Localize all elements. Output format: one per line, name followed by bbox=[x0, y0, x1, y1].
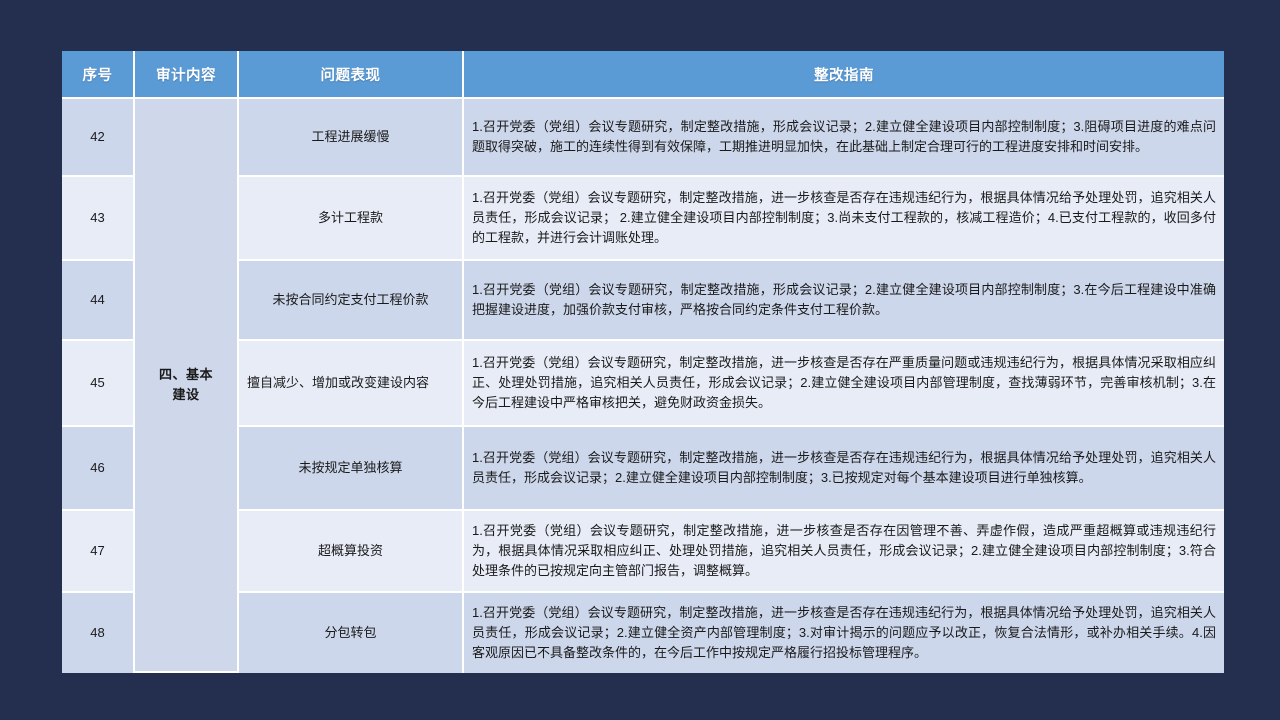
table-header-row: 序号 审计内容 问题表现 整改指南 bbox=[62, 51, 1224, 99]
audit-rectification-table: 序号 审计内容 问题表现 整改指南 42 四、基本 建设 工程进展缓慢 1.召开… bbox=[62, 51, 1224, 673]
column-header-content: 审计内容 bbox=[135, 51, 239, 99]
table-row: 42 四、基本 建设 工程进展缓慢 1.召开党委（党组）会议专题研究，制定整改措… bbox=[62, 99, 1224, 177]
cell-guide: 1.召开党委（党组）会议专题研究，制定整改措施，进一步核查是否存在因管理不善、弄… bbox=[464, 511, 1224, 593]
cell-guide: 1.召开党委（党组）会议专题研究，制定整改措施，形成会议记录；2.建立健全建设项… bbox=[464, 99, 1224, 177]
table-body: 42 四、基本 建设 工程进展缓慢 1.召开党委（党组）会议专题研究，制定整改措… bbox=[62, 99, 1224, 673]
cell-seq: 42 bbox=[62, 99, 135, 177]
cell-seq: 43 bbox=[62, 177, 135, 261]
cell-seq: 45 bbox=[62, 341, 135, 427]
group-label-line-2: 建设 bbox=[172, 387, 199, 402]
cell-issue: 擅自减少、增加或改变建设内容 bbox=[239, 341, 464, 427]
cell-seq: 48 bbox=[62, 593, 135, 673]
cell-issue: 分包转包 bbox=[239, 593, 464, 673]
group-label-line-1: 四、基本 bbox=[159, 367, 213, 382]
cell-issue: 未按合同约定支付工程价款 bbox=[239, 261, 464, 341]
column-header-guide: 整改指南 bbox=[464, 51, 1224, 99]
table-header: 序号 审计内容 问题表现 整改指南 bbox=[62, 51, 1224, 99]
cell-seq: 44 bbox=[62, 261, 135, 341]
cell-issue: 未按规定单独核算 bbox=[239, 427, 464, 511]
cell-issue: 多计工程款 bbox=[239, 177, 464, 261]
cell-guide: 1.召开党委（党组）会议专题研究，制定整改措施，进一步核查是否存在违规违纪行为，… bbox=[464, 177, 1224, 261]
cell-guide: 1.召开党委（党组）会议专题研究，制定整改措施，进一步核查是否存在严重质量问题或… bbox=[464, 341, 1224, 427]
cell-audit-content-group: 四、基本 建设 bbox=[135, 99, 239, 673]
cell-seq: 47 bbox=[62, 511, 135, 593]
cell-seq: 46 bbox=[62, 427, 135, 511]
slide-canvas: 序号 审计内容 问题表现 整改指南 42 四、基本 建设 工程进展缓慢 1.召开… bbox=[0, 0, 1280, 720]
column-header-issue: 问题表现 bbox=[239, 51, 464, 99]
cell-issue: 工程进展缓慢 bbox=[239, 99, 464, 177]
cell-guide: 1.召开党委（党组）会议专题研究，制定整改措施，形成会议记录；2.建立健全建设项… bbox=[464, 261, 1224, 341]
cell-guide: 1.召开党委（党组）会议专题研究，制定整改措施，进一步核查是否存在违规违纪行为，… bbox=[464, 427, 1224, 511]
column-header-seq: 序号 bbox=[62, 51, 135, 99]
cell-guide: 1.召开党委（党组）会议专题研究，制定整改措施，进一步核查是否存在违规违纪行为，… bbox=[464, 593, 1224, 673]
cell-issue: 超概算投资 bbox=[239, 511, 464, 593]
